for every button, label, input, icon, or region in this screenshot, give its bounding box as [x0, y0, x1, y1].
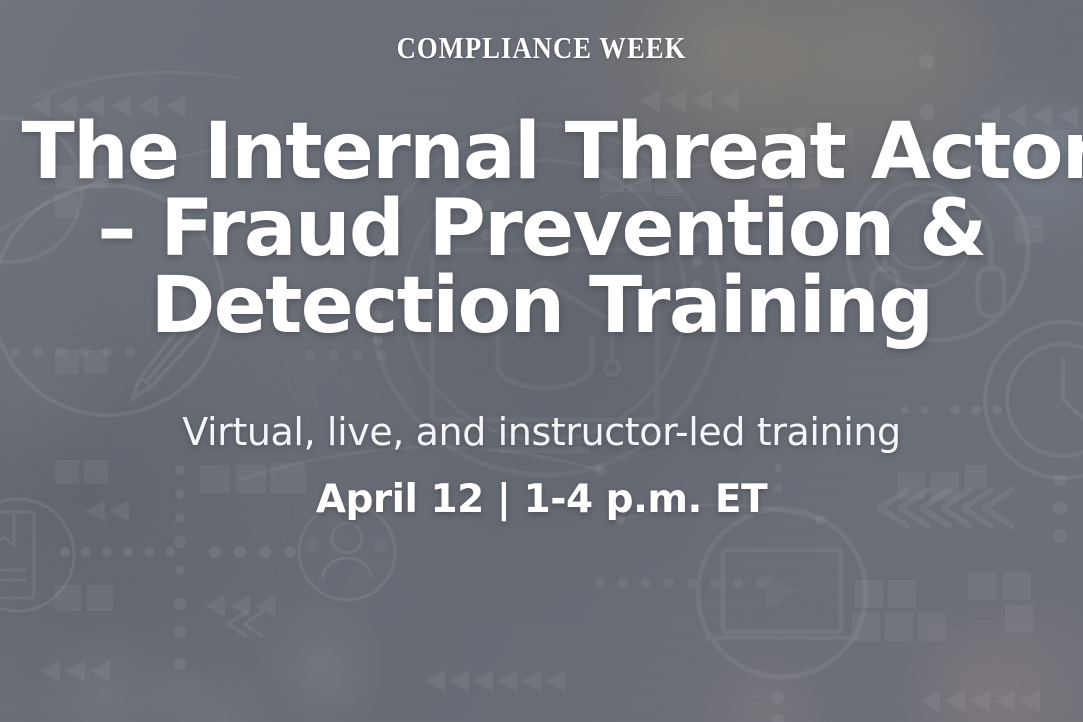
page-title-line-1: The Internal Threat Actor — [22, 114, 1062, 191]
event-dateline: April 12 | 1-4 p.m. ET — [316, 477, 767, 522]
compliance-week-logo: COMPLIANCE WEEK — [397, 30, 687, 66]
page-title: The Internal Threat Actor – Fraud Preven… — [22, 114, 1062, 346]
event-format-subtitle: Virtual, live, and instructor-led traini… — [182, 410, 901, 454]
event-promo-banner: COMPLIANCE WEEK The Internal Threat Acto… — [0, 0, 1083, 722]
page-title-line-2: – Fraud Prevention & — [22, 191, 1062, 268]
banner-content: COMPLIANCE WEEK The Internal Threat Acto… — [0, 0, 1083, 722]
page-title-line-3: Detection Training — [22, 268, 1062, 345]
